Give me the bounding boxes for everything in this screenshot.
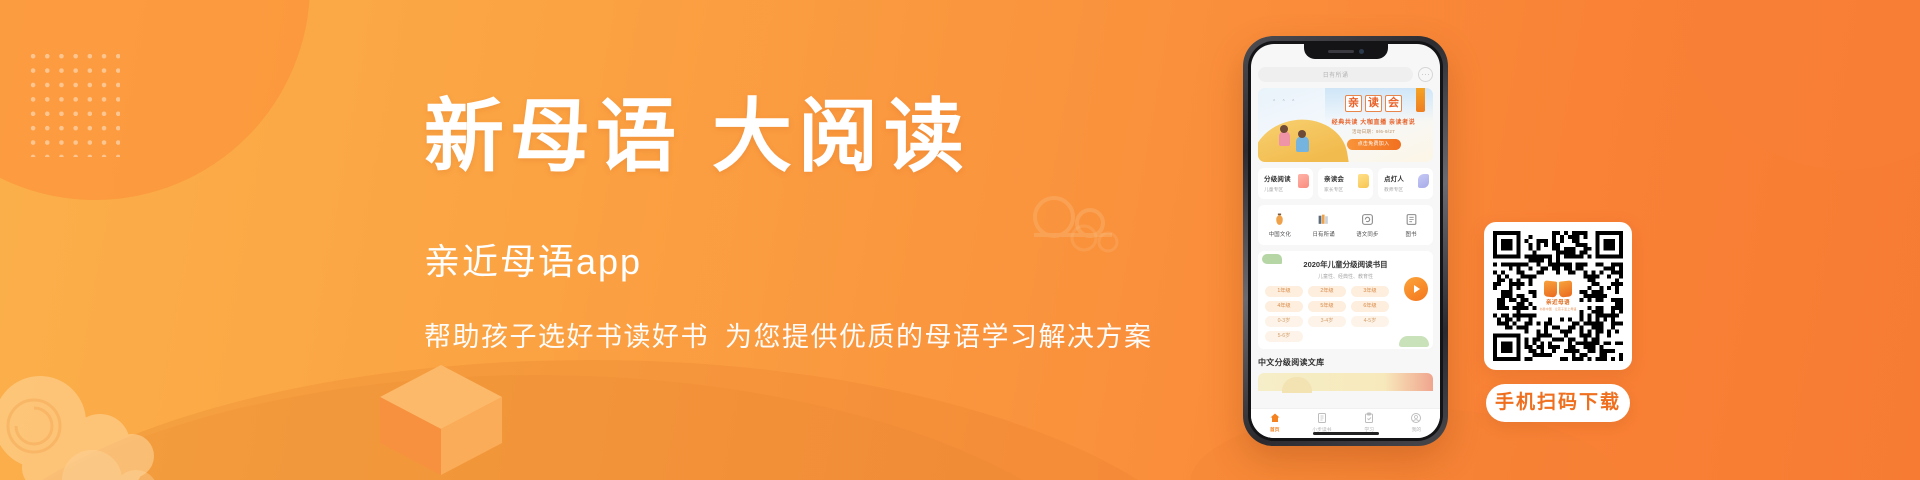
- qr-section: 亲近母语 书香中国 · 让孩子爱上母语 手机扫码下载: [1484, 222, 1632, 422]
- hero-child-1: [1279, 131, 1290, 146]
- phone-mockup: 日有所诵 ⌃ ⌃ ⌃: [1243, 36, 1448, 446]
- book-pink-icon: [1298, 174, 1309, 188]
- app-ui: 日有所诵 ⌃ ⌃ ⌃: [1251, 44, 1440, 438]
- age-chip[interactable]: 3-4岁: [1308, 316, 1346, 327]
- quick-entry-culture[interactable]: 中国文化: [1258, 213, 1302, 238]
- headline-part-2: 大阅读: [712, 94, 970, 182]
- decor-circle-top-right: [1680, 0, 1920, 170]
- hero-join-button[interactable]: 点击免费加入: [1347, 139, 1401, 150]
- hero-child-1-head: [1280, 125, 1288, 133]
- home-icon: [1268, 411, 1281, 424]
- zone-card-graded-reading[interactable]: 分级阅读 儿童专区: [1258, 168, 1313, 199]
- qr-card: 亲近母语 书香中国 · 让孩子爱上母语: [1484, 222, 1632, 370]
- tagline-part-1: 帮助孩子选好书读好书: [424, 322, 709, 352]
- booklist-chips: 1年级 2年级 3年级 4年级 5年级 6年级 0-3岁 3-4岁 4-5岁 5…: [1265, 286, 1426, 342]
- tab-reading[interactable]: 小步读书: [1298, 411, 1345, 433]
- phone-bezel: 日有所诵 ⌃ ⌃ ⌃: [1248, 41, 1443, 441]
- app-content: 日有所诵 ⌃ ⌃ ⌃: [1251, 63, 1440, 408]
- quick-entry-chinese-sync[interactable]: 语文同步: [1346, 213, 1390, 238]
- message-dots-icon[interactable]: [1418, 67, 1433, 82]
- grade-chip[interactable]: 1年级: [1265, 286, 1303, 297]
- qr-logo-slogan: 书香中国 · 让孩子爱上母语: [1539, 307, 1576, 311]
- phone-screen: 日有所诵 ⌃ ⌃ ⌃: [1251, 44, 1440, 438]
- tagline-part-2: 为您提供优质的母语学习解决方案: [725, 322, 1153, 352]
- grade-chip[interactable]: 5年级: [1308, 301, 1346, 312]
- decor-cube: [380, 365, 502, 480]
- section-title-library: 中文分级阅读文库: [1258, 357, 1433, 368]
- tab-label: 首页: [1251, 426, 1298, 433]
- hero-banner[interactable]: ⌃ ⌃ ⌃ 亲 读 会 经典共读 大咖直: [1258, 88, 1433, 162]
- search-bar: 日有所诵: [1258, 63, 1433, 88]
- user-circle-icon: [1410, 411, 1423, 424]
- promo-banner: 新母语大阅读 亲近母语app 帮助孩子选好书读好书为您提供优质的母语学习解决方案: [0, 0, 1920, 480]
- hero-ribbon: [1416, 88, 1425, 112]
- decor-dot-grid: [24, 47, 120, 157]
- age-chip[interactable]: 4-5岁: [1351, 316, 1389, 327]
- hero-date: 活动日期：9/6-9/27: [1318, 129, 1429, 135]
- quick-entry-daily-recite[interactable]: 日有所诵: [1302, 213, 1346, 238]
- booklist-subtitle: 儿童性、经典性、教育性: [1265, 273, 1426, 280]
- hero-title: 亲 读 会: [1318, 95, 1429, 112]
- quick-entry-label: 语文同步: [1346, 230, 1390, 238]
- hero-child-2: [1296, 136, 1309, 152]
- book-logo-icon: [1544, 281, 1572, 297]
- hero-title-char: 亲: [1345, 95, 1362, 112]
- tab-profile[interactable]: 我的: [1393, 411, 1440, 433]
- hero-subtitle: 经典共读 大咖直播 亲读者说: [1318, 117, 1429, 126]
- zone-card-teacher[interactable]: 点灯人 教师专区: [1378, 168, 1433, 199]
- clipboard-check-icon: [1363, 411, 1376, 424]
- qr-center-logo: 亲近母语 书香中国 · 让孩子爱上母语: [1538, 276, 1578, 316]
- hero-title-char: 读: [1365, 95, 1382, 112]
- birds-icon: ⌃ ⌃ ⌃: [1272, 99, 1297, 105]
- decor-ground-front: [0, 360, 1240, 480]
- zone-card-parent-club[interactable]: 亲读会 家长专区: [1318, 168, 1373, 199]
- home-indicator: [1313, 432, 1379, 435]
- hero-text-block: 亲 读 会 经典共读 大咖直播 亲读者说 活动日期：9/6-9/27 点击免费加…: [1318, 95, 1429, 150]
- quick-entry-label: 日有所诵: [1302, 230, 1346, 238]
- phone-notch: [1304, 44, 1388, 59]
- shelf-book: [1282, 377, 1312, 393]
- booklist-card: 2020年儿童分级阅读书目 儿童性、经典性、教育性 1年级 2年级 3年级 4年…: [1258, 251, 1433, 349]
- front-camera-icon: [1359, 49, 1364, 54]
- quick-entry-label: 中国文化: [1258, 230, 1302, 238]
- sync-icon: [1360, 213, 1374, 227]
- banner-copy: 新母语大阅读 亲近母语app 帮助孩子选好书读好书为您提供优质的母语学习解决方案: [424, 96, 1164, 354]
- vase-icon: [1273, 213, 1287, 227]
- headline-part-1: 新母语: [424, 94, 682, 182]
- cloud-small-icon: [52, 434, 202, 480]
- qr-code[interactable]: 亲近母语 书香中国 · 让孩子爱上母语: [1493, 231, 1623, 361]
- library-shelf-preview[interactable]: [1258, 373, 1433, 391]
- search-input[interactable]: 日有所诵: [1258, 67, 1413, 82]
- decor-ground-back: [0, 375, 1160, 480]
- qr-logo-name: 亲近母语: [1546, 298, 1570, 306]
- speaker-icon: [1328, 50, 1354, 53]
- age-chip[interactable]: 5-6岁: [1265, 331, 1303, 342]
- banner-tagline: 帮助孩子选好书读好书为您提供优质的母语学习解决方案: [424, 315, 1164, 354]
- age-chip[interactable]: 0-3岁: [1265, 316, 1303, 327]
- tab-study[interactable]: 学习: [1346, 411, 1393, 433]
- tab-home[interactable]: 首页: [1251, 411, 1298, 433]
- grade-chip[interactable]: 2年级: [1308, 286, 1346, 297]
- books-icon: [1317, 213, 1331, 227]
- decor-circle-top-left: [0, 0, 310, 200]
- grade-chip[interactable]: 3年级: [1351, 286, 1389, 297]
- quick-entry-label: 图书: [1389, 230, 1433, 238]
- booklist-title: 2020年儿童分级阅读书目: [1265, 259, 1426, 270]
- quick-entry-row: 中国文化 日有所诵: [1258, 205, 1433, 245]
- lamp-purple-icon: [1418, 174, 1429, 188]
- tab-label: 我的: [1393, 426, 1440, 433]
- search-placeholder: 日有所诵: [1323, 70, 1349, 79]
- book-list-icon: [1315, 411, 1328, 424]
- video-play-icon[interactable]: [1404, 277, 1428, 301]
- book-yellow-icon: [1358, 174, 1369, 188]
- grade-chip[interactable]: 4年级: [1265, 301, 1303, 312]
- app-name: 亲近母语app: [424, 233, 1164, 285]
- hero-child-2-head: [1298, 130, 1306, 138]
- quick-entry-books[interactable]: 图书: [1389, 213, 1433, 238]
- cloud-icon: [0, 360, 212, 480]
- grade-chip[interactable]: 6年级: [1351, 301, 1389, 312]
- download-button[interactable]: 手机扫码下载: [1486, 384, 1630, 422]
- book-icon: [1404, 213, 1418, 227]
- hero-title-char: 会: [1385, 95, 1402, 112]
- zone-cards: 分级阅读 儿童专区 亲读会 家长专区 点灯人 教师专: [1258, 168, 1433, 199]
- page-title: 新母语大阅读: [424, 96, 1164, 181]
